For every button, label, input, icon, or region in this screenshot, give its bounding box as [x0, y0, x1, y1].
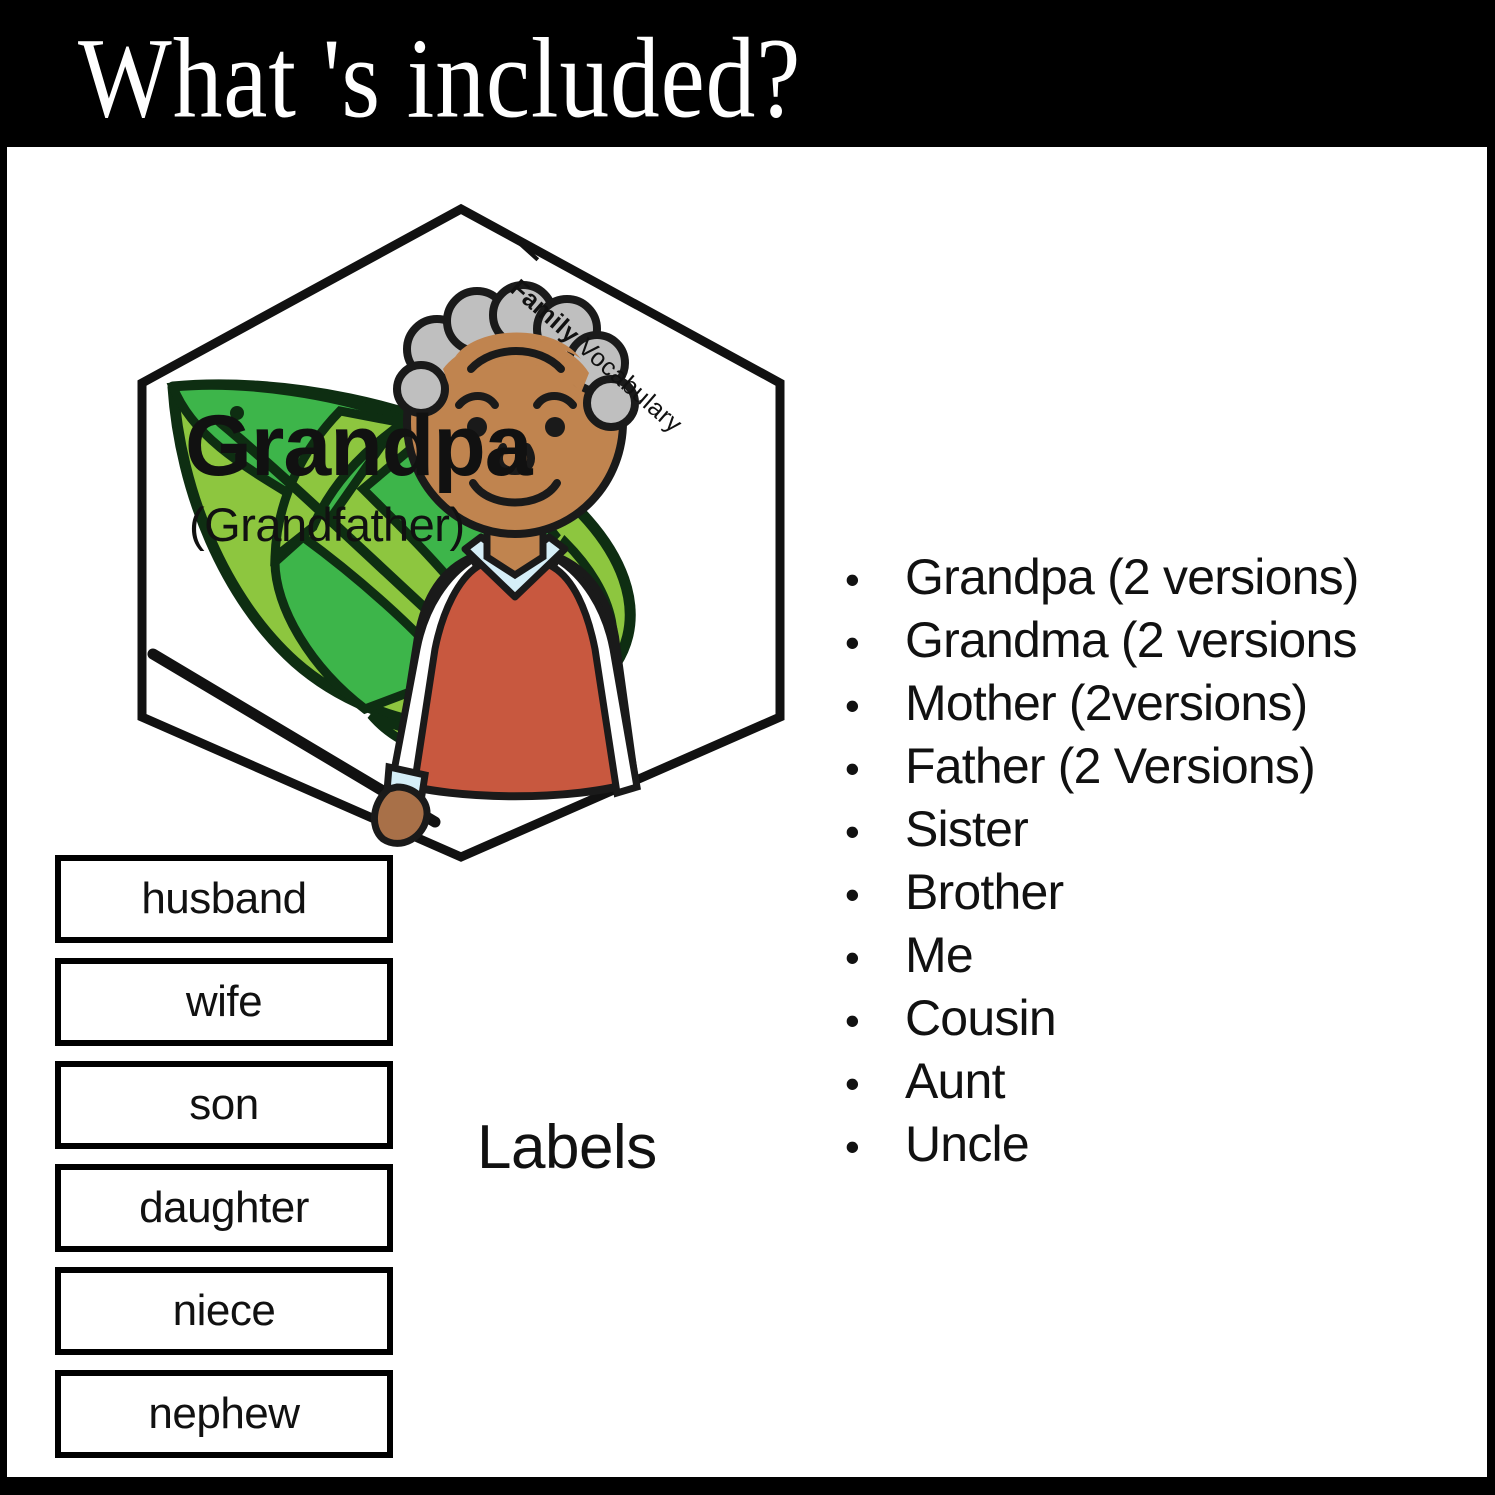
label-strip[interactable]: daughter	[55, 1164, 393, 1252]
list-item: • Grandma (2 versions	[845, 610, 1465, 673]
label-strip-text: niece	[173, 1289, 276, 1333]
list-item-label: Sister	[905, 799, 1028, 859]
list-item: • Sister	[845, 799, 1465, 862]
label-strip-text: daughter	[139, 1186, 309, 1230]
label-strip[interactable]: husband	[55, 855, 393, 943]
character-eye-right-shape	[545, 417, 565, 437]
label-strip[interactable]: wife	[55, 958, 393, 1046]
list-item: • Uncle	[845, 1114, 1465, 1177]
label-strip-text: son	[189, 1083, 258, 1127]
list-item-label: Uncle	[905, 1114, 1029, 1174]
character-hand-shape	[374, 787, 427, 843]
list-item-label: Grandma (2 versions	[905, 610, 1357, 670]
card-subtitle: (Grandfather)	[189, 497, 465, 552]
bullet-icon: •	[845, 928, 905, 988]
list-item-label: Mother (2versions)	[905, 673, 1307, 733]
bullet-icon: •	[845, 1117, 905, 1177]
label-strip[interactable]: niece	[55, 1267, 393, 1355]
list-item: • Grandpa (2 versions)	[845, 547, 1465, 610]
label-strip[interactable]: son	[55, 1061, 393, 1149]
list-item-label: Cousin	[905, 988, 1056, 1048]
label-strip[interactable]: nephew	[55, 1370, 393, 1458]
page-title: What 's included?	[78, 16, 801, 144]
card-title: Grandpa	[185, 397, 532, 496]
bullet-icon: •	[845, 739, 905, 799]
bullet-icon: •	[845, 550, 905, 610]
list-item-label: Father (2 Versions)	[905, 736, 1315, 796]
label-strips-group: husband wife son daughter niece nephew	[55, 855, 395, 1473]
list-item: • Father (2 Versions)	[845, 736, 1465, 799]
list-item: • Brother	[845, 862, 1465, 925]
label-strip-text: husband	[141, 877, 306, 921]
bullet-icon: •	[845, 676, 905, 736]
list-item-label: Me	[905, 925, 973, 985]
bullet-icon: •	[845, 613, 905, 673]
list-item-label: Grandpa (2 versions)	[905, 547, 1359, 607]
list-item: • Mother (2versions)	[845, 673, 1465, 736]
list-item-label: Brother	[905, 862, 1063, 922]
list-item-label: Aunt	[905, 1051, 1005, 1111]
content-area: Family Vocabulary Grandpa (Grandfather) …	[7, 147, 1487, 1477]
list-item: • Cousin	[845, 988, 1465, 1051]
list-item: • Aunt	[845, 1051, 1465, 1114]
bullet-icon: •	[845, 802, 905, 862]
bullet-icon: •	[845, 865, 905, 925]
page-frame: What 's included?	[0, 0, 1495, 1495]
list-item: • Me	[845, 925, 1465, 988]
labels-caption: Labels	[477, 1112, 657, 1183]
bullet-icon: •	[845, 991, 905, 1051]
label-strip-text: wife	[186, 980, 262, 1024]
bullet-icon: •	[845, 1054, 905, 1114]
included-items-list: • Grandpa (2 versions) • Grandma (2 vers…	[845, 547, 1465, 1177]
flashcard-hexagon[interactable]: Family Vocabulary Grandpa (Grandfather)	[125, 197, 797, 869]
header-banner: What 's included?	[0, 0, 1495, 147]
label-strip-text: nephew	[148, 1392, 299, 1436]
